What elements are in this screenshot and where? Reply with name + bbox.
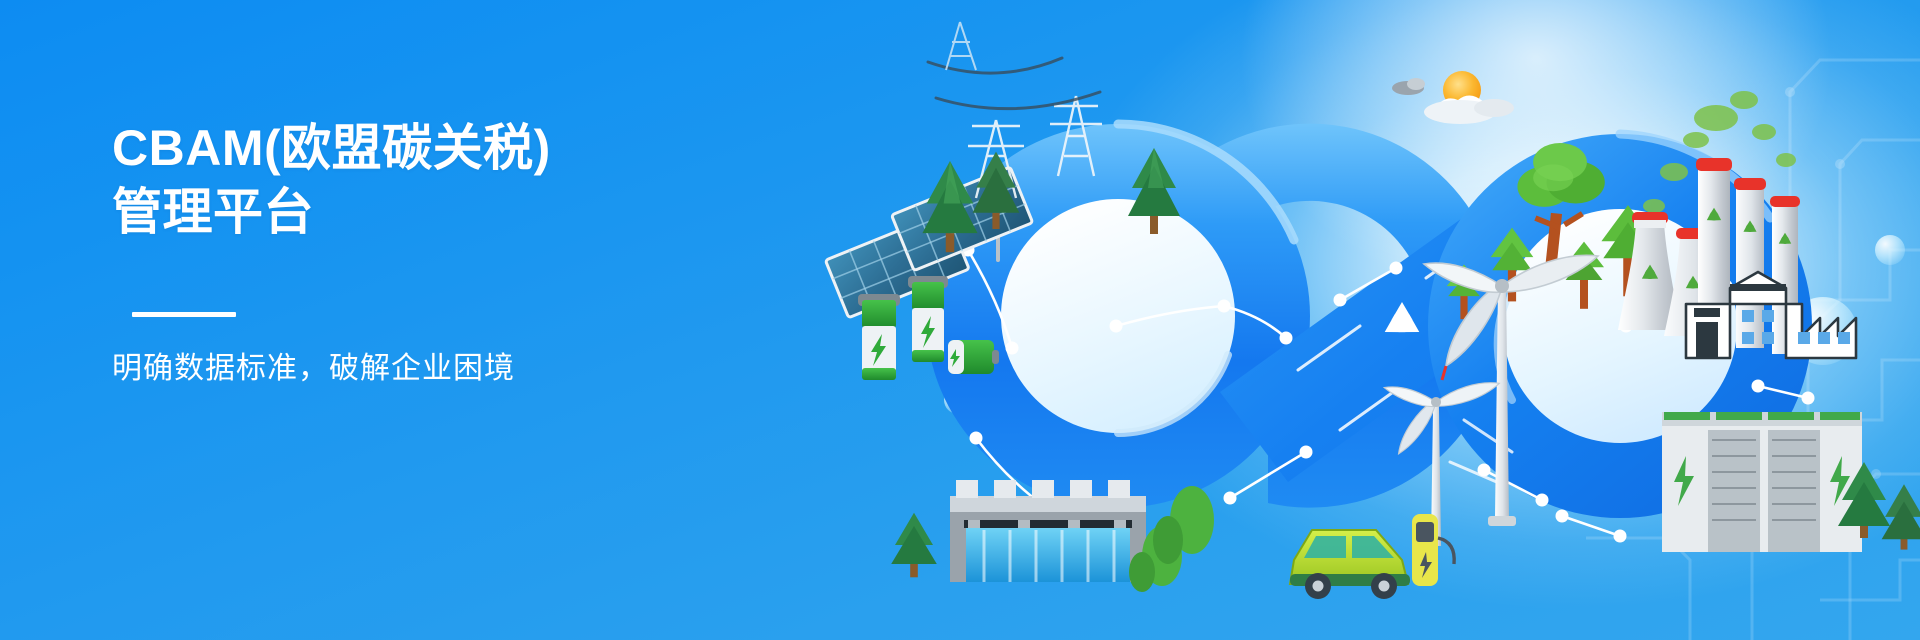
power-tower-icon [928,22,1102,198]
bokeh-bubble [888,233,932,277]
battery-icon [858,276,999,380]
pine-tree-icon [1838,462,1920,550]
solar-panel-icon [825,167,1032,318]
smoke-stack-icon [1696,158,1800,354]
bokeh-bubble [1789,297,1857,365]
connector-wires [968,250,1808,536]
loop-right-ring [1428,134,1812,518]
bokeh-bubble [1727,205,1769,247]
green-emission-cloud [1643,91,1796,213]
broadleaf-tree-icon [1447,143,1655,319]
title-line-2: 管理平台 [112,180,832,244]
recycle-icon [1379,302,1424,341]
hero-subtitle: 明确数据标准，破解企业困境 [112,349,832,389]
charging-pile-icon [1412,514,1454,586]
cooling-tower-icon [1618,91,1800,354]
bokeh-bubble [916,300,976,360]
factory-icon [1686,272,1856,358]
loop-right-notch [1436,386,1542,496]
pine-tree-icon [922,148,1180,252]
background-glow-top [1114,0,1920,410]
wind-turbine-icon [1384,255,1598,546]
hero-copy: CBAM(欧盟碳关税) 管理平台 明确数据标准，破解企业困境 [112,116,832,389]
electric-car-icon [1290,530,1410,599]
title-line-1: CBAM(欧盟碳关税) [112,116,832,180]
sun-cloud-icon [1392,71,1514,124]
page-title: CBAM(欧盟碳关税) 管理平台 [112,116,832,244]
energy-storage-icon [1662,412,1862,552]
bokeh-bubble [1875,235,1905,265]
loop-left-ring [926,124,1502,508]
bokeh-bubble [944,386,972,414]
loop-diagonal-bar [1220,168,1606,482]
connector-nodes [962,244,1815,543]
hill-shrub [1153,486,1214,564]
hydro-dam-icon [891,480,1182,592]
carbon-neutral-illustration [800,0,1920,640]
bokeh-bubble [1724,459,1746,481]
background-glow [998,0,1920,640]
circuit-pattern [1490,0,1920,640]
title-divider [132,312,236,317]
cbam-hero-banner: CBAM(欧盟碳关税) 管理平台 明确数据标准，破解企业困境 [0,0,1920,640]
